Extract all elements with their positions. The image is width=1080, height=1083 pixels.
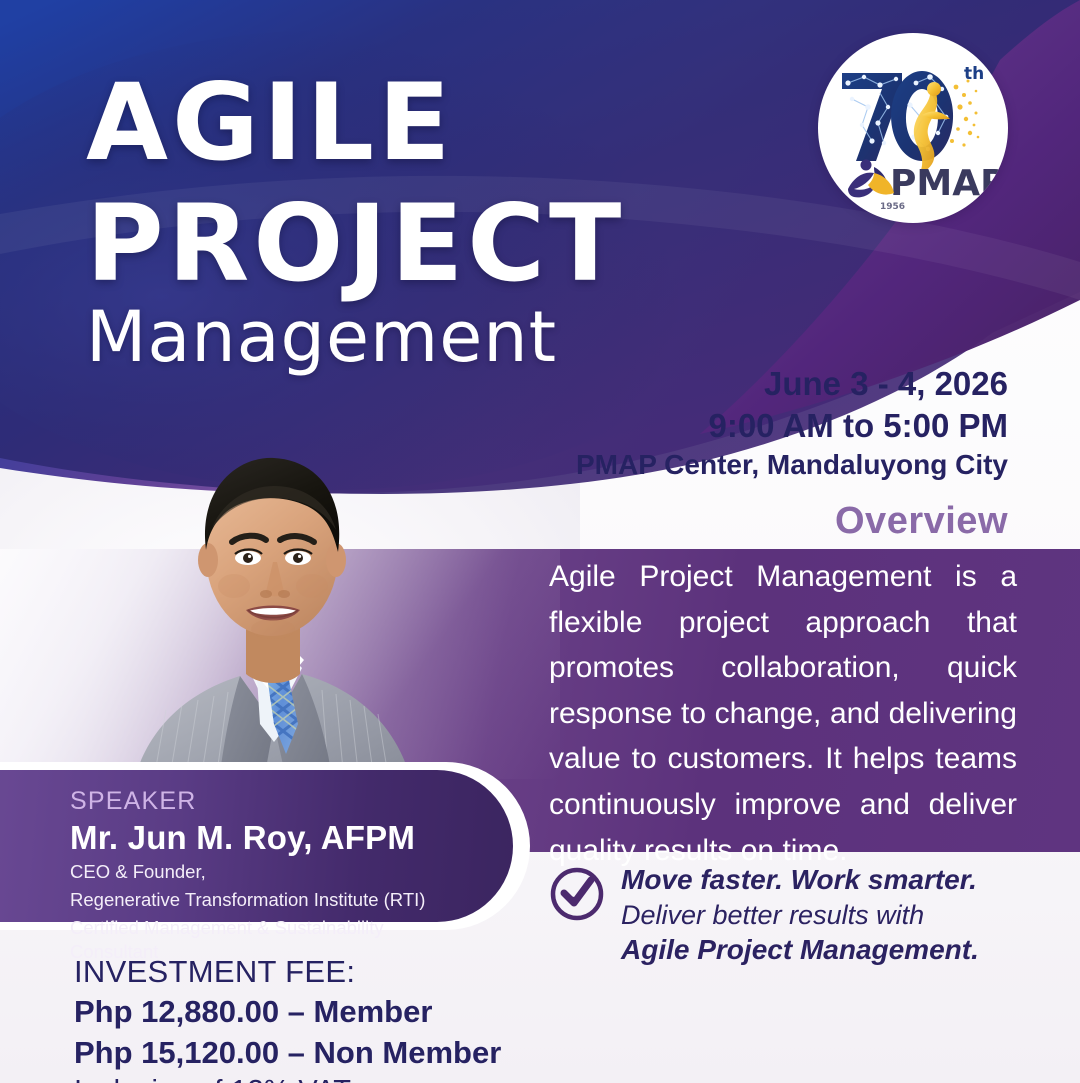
pmap-logo-graphic: th PMAP 1956	[818, 33, 1008, 223]
tagline-line-3: Agile Project Management.	[621, 932, 1029, 968]
title-subtitle-management: Management	[86, 302, 846, 372]
title-line-project: PROJECT	[86, 193, 846, 296]
investment-fee-label: INVESTMENT FEE:	[74, 952, 501, 992]
logo-person-mark	[848, 160, 894, 198]
tagline-line-1: Move faster. Work smarter.	[621, 862, 1029, 898]
event-venue: PMAP Center, Mandaluyong City	[576, 447, 1008, 484]
tagline-line-2: Deliver better results with	[621, 898, 1029, 933]
speaker-card-outline: SPEAKER Mr. Jun M. Roy, AFPM CEO & Found…	[0, 762, 530, 930]
speaker-card: SPEAKER Mr. Jun M. Roy, AFPM CEO & Found…	[0, 770, 513, 922]
overview-heading: Overview	[835, 500, 1008, 543]
speaker-credential-line-2: Regenerative Transformation Institute (R…	[70, 888, 470, 913]
speaker-label: SPEAKER	[70, 788, 470, 816]
speaker-name: Mr. Jun M. Roy, AFPM	[70, 818, 470, 858]
investment-fee-vat-note: Inclusive of 12% VAT	[74, 1073, 501, 1083]
check-circle-icon	[549, 866, 605, 922]
speaker-credential-line-1: CEO & Founder,	[70, 860, 470, 885]
event-time: 9:00 AM to 5:00 PM	[576, 405, 1008, 447]
investment-fee-non-member: Php 15,120.00 – Non Member	[74, 1033, 501, 1073]
logo-particles	[950, 80, 979, 147]
overview-paragraph: Agile Project Management is a flexible p…	[549, 554, 1017, 873]
pmap-70th-logo: th PMAP 1956	[818, 33, 1008, 223]
logo-th-suffix: th	[964, 64, 984, 84]
logo-founded-year: 1956	[880, 202, 905, 212]
investment-fee-block: INVESTMENT FEE: Php 12,880.00 – Member P…	[74, 952, 501, 1083]
poster-root: AGILE PROJECT Management	[0, 0, 1080, 1083]
event-details: June 3 - 4, 2026 9:00 AM to 5:00 PM PMAP…	[576, 363, 1008, 484]
investment-fee-member: Php 12,880.00 – Member	[74, 992, 501, 1032]
event-date: June 3 - 4, 2026	[576, 363, 1008, 405]
title-line-agile: AGILE	[86, 72, 846, 175]
page-title: AGILE PROJECT Management	[86, 72, 846, 372]
tagline-block: Move faster. Work smarter. Deliver bette…	[549, 862, 1029, 968]
